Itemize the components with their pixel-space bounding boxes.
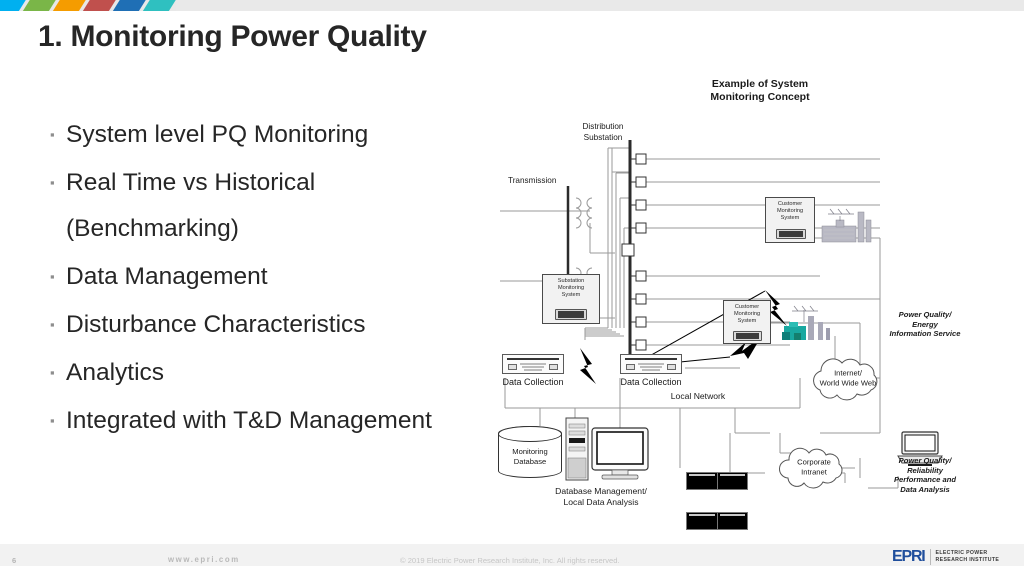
page-title: 1. Monitoring Power Quality (38, 20, 638, 54)
data-collection-device-2 (620, 354, 682, 374)
list-item: ▪ Data Management (50, 254, 480, 300)
label-internet: Internet/ World Wide Web (806, 369, 890, 388)
internet-cloud-icon: Internet/ World Wide Web (806, 354, 890, 402)
list-item: ▪ System level PQ Monitoring (50, 112, 480, 158)
list-item: ▪ Analytics (50, 350, 480, 396)
meter-icon (776, 229, 806, 239)
list-item-label: Analytics (66, 350, 164, 396)
server-rack-1 (686, 472, 748, 490)
label-customer-monitoring-system-2: Customer Monitoring System (724, 304, 770, 325)
diagram-title: Example of System Monitoring Concept (660, 78, 860, 104)
label-data-collection-1: Data Collection (492, 377, 574, 388)
label-distribution-substation: Distribution Substation (558, 122, 648, 143)
list-item: ▪ Disturbance Characteristics (50, 302, 480, 348)
copyright-text: © 2019 Electric Power Research Institute… (400, 556, 620, 565)
label-corporate-intranet: Corporate Intranet (775, 458, 853, 477)
page-number: 6 (12, 556, 16, 565)
substation-monitoring-system-box: Substation Monitoring System (542, 274, 600, 324)
corporate-intranet-cloud-icon: Corporate Intranet (775, 444, 853, 490)
label-transmission: Transmission (508, 176, 578, 187)
workstation-icon (564, 416, 652, 484)
label-pq-reliability-analysis: Power Quality/ Reliability Performance a… (872, 456, 978, 494)
meter-icon (733, 331, 762, 341)
meter-icon (555, 309, 587, 320)
top-accent-bar (0, 0, 1024, 11)
bullet-marker-icon: ▪ (50, 398, 66, 444)
label-customer-monitoring-system-1: Customer Monitoring System (766, 201, 814, 222)
list-item-label: System level PQ Monitoring (66, 112, 368, 158)
bullet-marker-icon: ▪ (50, 254, 66, 300)
label-data-collection-2: Data Collection (610, 377, 692, 388)
monitoring-database-icon: Monitoring Database (498, 426, 562, 478)
list-item: ▪ Real Time vs Historical (Benchmarking) (50, 160, 480, 252)
industrial-plant-icon-2 (780, 302, 838, 344)
label-pq-energy-info-service: Power Quality/ Energy Information Servic… (870, 310, 980, 339)
customer-monitoring-system-box-1: Customer Monitoring System (765, 197, 815, 243)
bullet-list: ▪ System level PQ Monitoring ▪ Real Time… (50, 112, 480, 446)
list-item: ▪ Integrated with T&D Management (50, 398, 480, 444)
label-local-network: Local Network (658, 391, 738, 402)
industrial-plant-icon-1 (820, 200, 876, 246)
bullet-marker-icon: ▪ (50, 350, 66, 396)
system-monitoring-diagram: Example of System Monitoring Concept Dis… (480, 78, 1020, 508)
list-item-label: Real Time vs Historical (Benchmarking) (66, 160, 480, 252)
label-monitoring-database: Monitoring Database (499, 447, 561, 466)
epri-logo: EPRI ELECTRIC POWER RESEARCH INSTITUTE (892, 548, 999, 566)
accent-stripe-6 (140, 0, 178, 11)
footer-website-url: www.epri.com (168, 555, 240, 564)
epri-logo-wordmark: EPRI (892, 548, 925, 566)
label-database-management: Database Management/ Local Data Analysis (536, 486, 666, 507)
label-substation-monitoring-system: Substation Monitoring System (543, 278, 599, 299)
data-collection-device-1 (502, 354, 564, 374)
list-item-label: Data Management (66, 254, 268, 300)
bullet-marker-icon: ▪ (50, 112, 66, 158)
bullet-marker-icon: ▪ (50, 160, 66, 206)
list-item-label: Disturbance Characteristics (66, 302, 366, 348)
customer-monitoring-system-box-2: Customer Monitoring System (723, 300, 771, 344)
epri-logo-subtitle: ELECTRIC POWER RESEARCH INSTITUTE (936, 550, 1000, 563)
bullet-marker-icon: ▪ (50, 302, 66, 348)
list-item-label: Integrated with T&D Management (66, 398, 432, 444)
server-rack-2 (686, 512, 748, 530)
top-accent-bar-filler (176, 0, 1024, 11)
logo-divider (930, 549, 931, 565)
